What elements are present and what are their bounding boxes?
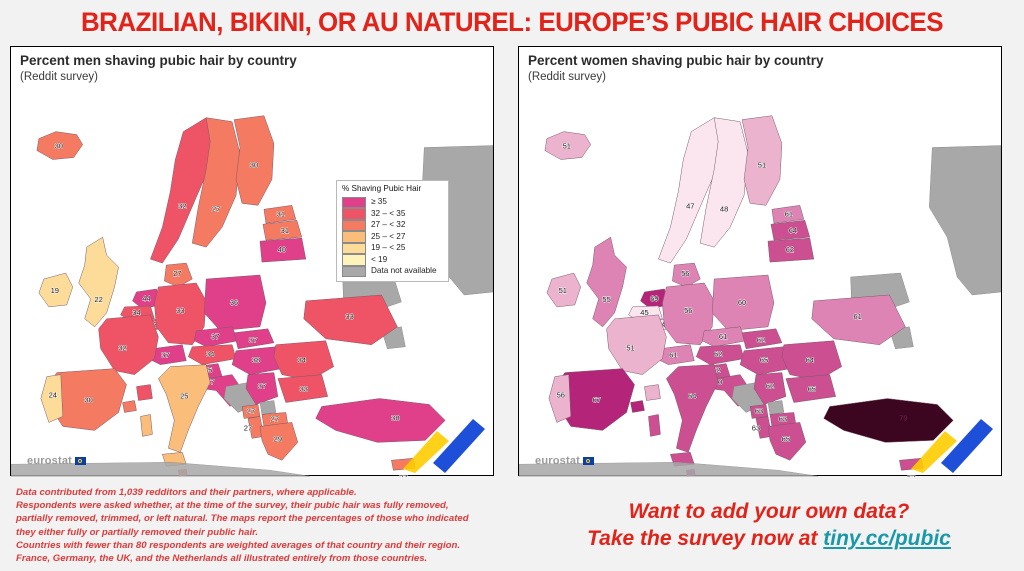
map-panel-women: Percent women shaving pubic hair by coun… bbox=[518, 46, 1002, 476]
cta-line-1: Want to add your own data? bbox=[524, 498, 1014, 525]
label-france: 32 bbox=[118, 344, 126, 353]
legend-title-men: % Shaving Pubic Hair bbox=[342, 185, 442, 194]
label-czechia: 37 bbox=[211, 332, 219, 341]
panel-title-men: Percent men shaving pubic hair by countr… bbox=[20, 53, 297, 68]
eurostat-logo-men: eurostat bbox=[27, 455, 86, 467]
label-romania: 34 bbox=[298, 356, 306, 365]
label-cyprus: 63 bbox=[907, 473, 915, 477]
legend-label: 32 – < 35 bbox=[371, 210, 405, 219]
eurostat-wordmark: eurostat bbox=[535, 455, 580, 467]
label-latvia: 31 bbox=[281, 226, 289, 235]
label-latvia: 64 bbox=[789, 226, 797, 235]
label-norway: 47 bbox=[686, 201, 694, 210]
region-italy bbox=[158, 365, 210, 453]
region-uk bbox=[587, 237, 627, 327]
footnote: Data contributed from 1,039 redditors an… bbox=[16, 486, 516, 565]
legend-swatch bbox=[342, 243, 366, 255]
legend-row: 32 – < 35 bbox=[342, 208, 442, 220]
label-montenegro: 63 bbox=[755, 406, 763, 415]
label-estonia: 61 bbox=[785, 209, 793, 218]
label-belgium: 34 bbox=[132, 308, 140, 317]
label-czechia: 61 bbox=[719, 332, 727, 341]
label-switzerland: 37 bbox=[161, 351, 169, 360]
label-germany: 33 bbox=[176, 306, 184, 315]
legend-label: 27 – < 32 bbox=[371, 221, 405, 230]
legend-row: Data not available bbox=[342, 266, 442, 278]
label-iceland: 51 bbox=[563, 142, 571, 151]
label-ukraine: 61 bbox=[853, 312, 861, 321]
footnote-line: Countries with fewer than 80 respondents… bbox=[16, 539, 516, 552]
label-montenegro: 27 bbox=[247, 406, 255, 415]
region-sardinia bbox=[648, 414, 660, 436]
label-iceland: 30 bbox=[55, 142, 63, 151]
label-slovakia: 37 bbox=[249, 336, 257, 345]
legend-row: < 19 bbox=[342, 254, 442, 266]
label-ireland: 19 bbox=[51, 286, 59, 295]
legend-swatch bbox=[342, 254, 366, 266]
region-kosovo-na bbox=[260, 401, 276, 415]
label-italy: 25 bbox=[180, 392, 188, 401]
panel-subtitle-men: (Reddit survey) bbox=[20, 71, 98, 83]
label-poland: 36 bbox=[230, 298, 238, 307]
label-switzerland: 61 bbox=[669, 351, 677, 360]
label-italy: 64 bbox=[688, 392, 696, 401]
label-austria: 62 bbox=[714, 350, 722, 359]
label-poland: 60 bbox=[738, 298, 746, 307]
legend-men: % Shaving Pubic Hair ≥ 35 32 – < 35 27 –… bbox=[336, 180, 449, 282]
legend-label: Data not available bbox=[371, 267, 437, 276]
footnote-line: they either fully or partially removed t… bbox=[16, 526, 516, 539]
label-slovakia: 62 bbox=[757, 336, 765, 345]
legend-swatch bbox=[342, 197, 366, 209]
label-ukraine: 33 bbox=[345, 312, 353, 321]
legend-swatch bbox=[342, 231, 366, 243]
label-hungary: 38 bbox=[252, 356, 260, 365]
label-sweden: 27 bbox=[212, 204, 220, 213]
region-corsica bbox=[136, 385, 152, 401]
label-bulgaria: 65 bbox=[808, 385, 816, 394]
label-spain: 30 bbox=[84, 396, 92, 405]
label-lithuania: 40 bbox=[278, 245, 286, 254]
label-serbia: 37 bbox=[258, 382, 266, 391]
map-panel-men: Percent men shaving pubic hair by countr… bbox=[10, 46, 494, 476]
legend-label: 25 – < 27 bbox=[371, 233, 405, 242]
region-france bbox=[607, 315, 667, 375]
label-denmark: 56 bbox=[681, 269, 689, 278]
region-russia-na bbox=[929, 146, 1001, 295]
corner-decoration-men bbox=[397, 413, 489, 473]
panel-subtitle-women: (Reddit survey) bbox=[528, 71, 606, 83]
label-denmark: 27 bbox=[173, 269, 181, 278]
eu-flag-icon bbox=[583, 457, 594, 465]
label-uk: 22 bbox=[94, 295, 102, 304]
label-portugal: 24 bbox=[49, 391, 57, 400]
legend-row: 27 – < 32 bbox=[342, 220, 442, 232]
region-italy bbox=[666, 365, 718, 453]
label-greece: 65 bbox=[782, 434, 790, 443]
legend-swatch bbox=[342, 208, 366, 220]
label-albania: 27 bbox=[244, 423, 252, 432]
region-balearics bbox=[631, 401, 645, 413]
label-lithuania: 62 bbox=[786, 245, 794, 254]
legend-label: < 19 bbox=[371, 256, 387, 265]
eurostat-logo-women: eurostat bbox=[535, 455, 594, 467]
label-austria: 34 bbox=[206, 350, 214, 359]
region-balearics bbox=[123, 401, 137, 413]
label-hungary: 65 bbox=[760, 356, 768, 365]
region-kosovo-na bbox=[768, 401, 784, 415]
label-serbia: 62 bbox=[766, 382, 774, 391]
legend-label: ≥ 35 bbox=[371, 198, 387, 207]
legend-row: 19 – < 25 bbox=[342, 243, 442, 255]
label-belgium: 45 bbox=[640, 308, 648, 317]
region-sardinia bbox=[140, 414, 152, 436]
region-france bbox=[99, 315, 159, 375]
label-uk: 55 bbox=[602, 295, 610, 304]
page-title: BRAZILIAN, BIKINI, OR AU NATUREL: EUROPE… bbox=[20, 4, 1003, 40]
legend-label: 19 – < 25 bbox=[371, 244, 405, 253]
label-romania: 64 bbox=[806, 356, 814, 365]
footnote-line: Respondents were asked whether, at the t… bbox=[16, 499, 516, 512]
legend-swatch bbox=[342, 220, 366, 232]
label-albania: 63 bbox=[752, 423, 760, 432]
cta-line-2: Take the survey now at tiny.cc/pubic bbox=[524, 525, 1014, 553]
region-uk bbox=[79, 237, 119, 327]
corner-decoration-women bbox=[905, 413, 997, 473]
label-netherlands: 69 bbox=[650, 294, 658, 303]
label-netherlands: 44 bbox=[142, 294, 150, 303]
region-corsica bbox=[644, 385, 660, 401]
eurostat-wordmark: eurostat bbox=[27, 455, 72, 467]
label-north-macedonia: 27 bbox=[271, 414, 279, 423]
label-portugal: 56 bbox=[557, 391, 565, 400]
eu-flag-icon bbox=[75, 457, 86, 465]
survey-link[interactable]: tiny.cc/pubic bbox=[823, 527, 951, 550]
label-bulgaria: 33 bbox=[300, 385, 308, 394]
legend-row: ≥ 35 bbox=[342, 197, 442, 209]
legend-swatch bbox=[342, 266, 366, 278]
label-greece: 29 bbox=[274, 434, 282, 443]
label-estonia: 31 bbox=[277, 209, 285, 218]
label-cyprus: 27 bbox=[399, 473, 407, 477]
label-sweden: 48 bbox=[720, 204, 728, 213]
label-ireland: 51 bbox=[559, 286, 567, 295]
label-france: 51 bbox=[626, 344, 634, 353]
call-to-action: Want to add your own data? Take the surv… bbox=[524, 498, 1014, 553]
label-germany: 56 bbox=[684, 306, 692, 315]
label-finland: 51 bbox=[758, 160, 766, 169]
label-north-macedonia: 63 bbox=[779, 414, 787, 423]
label-finland: 30 bbox=[250, 160, 258, 169]
panel-title-women: Percent women shaving pubic hair by coun… bbox=[528, 53, 824, 68]
footnote-line: France, Germany, the UK, and the Netherl… bbox=[16, 552, 516, 565]
cta-line-2-prefix: Take the survey now at bbox=[587, 527, 823, 550]
label-norway: 32 bbox=[178, 201, 186, 210]
label-spain: 67 bbox=[592, 396, 600, 405]
legend-row: 25 – < 27 bbox=[342, 231, 442, 243]
footnote-line: Data contributed from 1,039 redditors an… bbox=[16, 486, 516, 499]
footnote-line: partially removed, trimmed, or left natu… bbox=[16, 512, 516, 525]
